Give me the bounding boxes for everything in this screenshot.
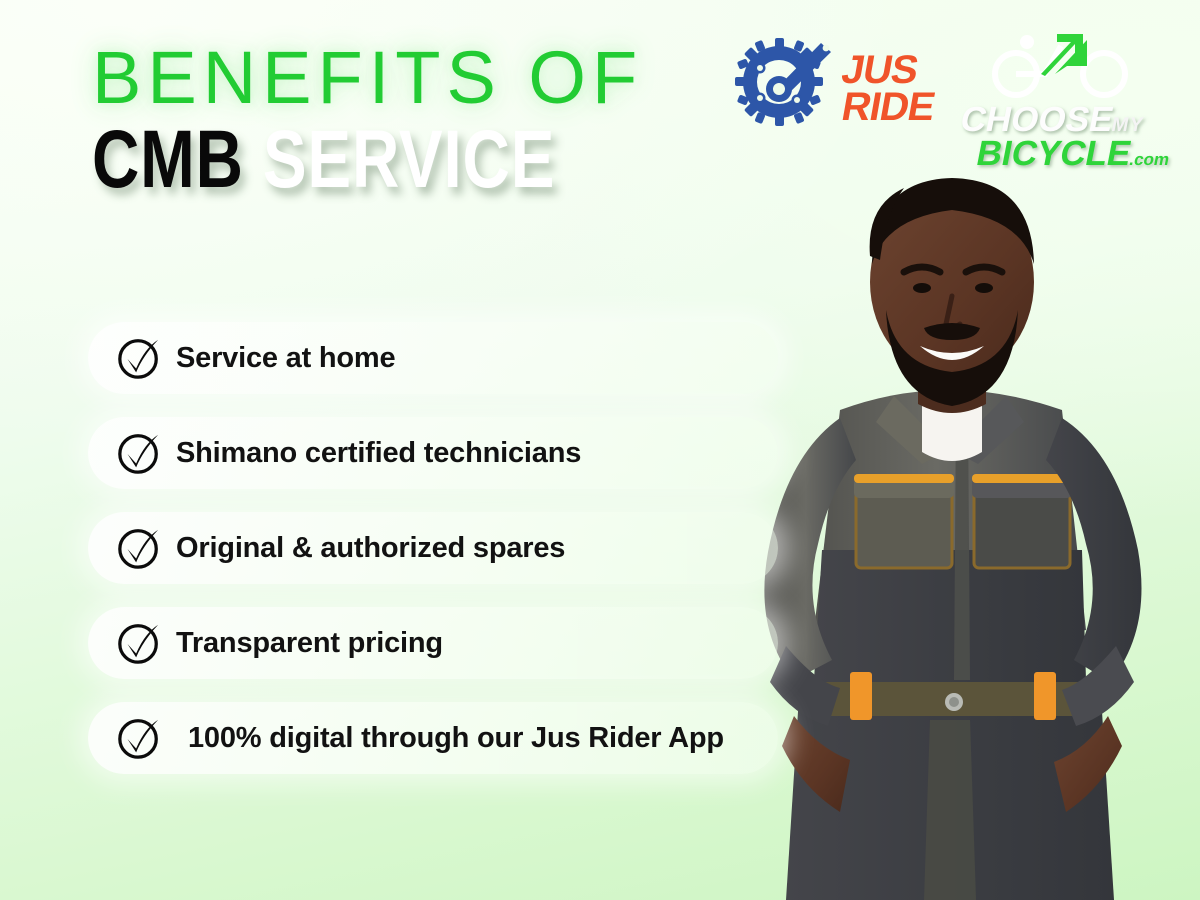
logo-choosemybicycle[interactable]: CHOOSEMY BICYCLE.com <box>957 26 1187 166</box>
chainring-crank-icon <box>735 38 835 142</box>
bicycle-arrow-icon <box>983 30 1143 100</box>
check-circle-icon <box>116 715 162 761</box>
headline-line-2: CMB SERVICE <box>92 121 604 200</box>
headline-block: BENEFITS OF CMB SERVICE <box>92 42 732 200</box>
logo-jusride[interactable]: JUS RIDE <box>735 38 935 150</box>
benefit-item-2[interactable]: Shimano certified technicians <box>88 417 778 489</box>
check-circle-icon <box>116 430 162 476</box>
jusride-line-2: RIDE <box>839 89 937 126</box>
check-circle-icon <box>116 525 162 571</box>
benefit-item-3[interactable]: Original & authorized spares <box>88 512 778 584</box>
benefit-label-2: Shimano certified technicians <box>176 437 581 470</box>
check-circle-icon <box>116 620 162 666</box>
check-circle-icon <box>116 335 162 381</box>
benefit-item-4[interactable]: Transparent pricing <box>88 607 778 679</box>
jusride-line-1: JUS <box>839 52 937 89</box>
jusride-wordmark: JUS RIDE <box>839 52 931 126</box>
benefit-item-1[interactable]: Service at home <box>88 322 778 394</box>
benefits-list: Service at home Shimano certified techni… <box>88 322 778 797</box>
benefit-label-3: Original & authorized spares <box>176 532 565 565</box>
benefit-label-5: 100% digital through our Jus Rider App <box>188 722 724 755</box>
poster-canvas: BENEFITS OF CMB SERVICE <box>0 0 1200 900</box>
logo-row: JUS RIDE CHOOSEMY <box>735 26 1190 166</box>
benefit-label-1: Service at home <box>176 342 395 375</box>
benefit-label-4: Transparent pricing <box>176 627 443 660</box>
headline-line-1: BENEFITS OF <box>92 42 732 113</box>
headline-service: SERVICE <box>263 114 555 205</box>
headline-cmb: CMB <box>92 114 244 205</box>
cmb-my: MY <box>1110 114 1146 136</box>
benefit-item-5[interactable]: 100% digital through our Jus Rider App <box>88 702 778 774</box>
